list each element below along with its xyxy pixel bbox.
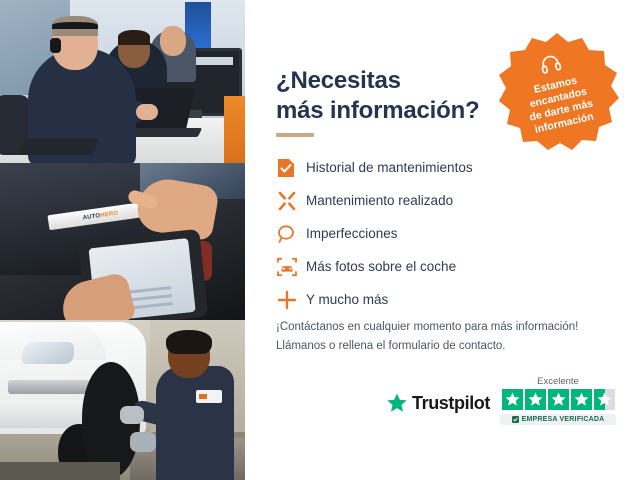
feature-item-imperfecciones: Imperfecciones	[276, 218, 576, 249]
star-full	[525, 389, 546, 410]
ruler-brand-part2: HERO	[100, 210, 119, 218]
feature-label: Más fotos sobre el coche	[306, 260, 456, 274]
badge-text: Estamos encantados de darte más informac…	[503, 68, 618, 142]
mechanic-lift-photo	[0, 320, 245, 480]
trustpilot-logo: Trustpilot	[386, 392, 490, 414]
rating-label: Excelente	[500, 376, 616, 387]
feature-label: Mantenimiento realizado	[306, 194, 453, 208]
promo-banner: AUTOHERO ¿Necesitas más inform	[0, 0, 639, 480]
verified-label: EMPRESA VERIFICADA	[522, 416, 605, 423]
contact-line-1: ¡Contáctanos en cualquier momento para m…	[276, 318, 612, 337]
star-full	[548, 389, 569, 410]
magnifier-icon	[276, 222, 306, 246]
page-title: ¿Necesitas más información?	[276, 66, 511, 126]
contact-line-2: Llámanos o rellena el formulario de cont…	[276, 337, 612, 356]
feature-list: Historial de mantenimientos Mantenimient…	[276, 152, 576, 317]
feature-label: Y mucho más	[306, 293, 388, 307]
trustpilot-wordmark: Trustpilot	[412, 393, 490, 414]
headset-icon	[538, 52, 565, 81]
star-rating	[500, 389, 616, 410]
wrench-tools-icon	[276, 189, 306, 213]
photo-column: AUTOHERO	[0, 0, 245, 480]
headline-line-2: más información?	[276, 96, 511, 126]
feature-label: Imperfecciones	[306, 227, 398, 241]
star-full	[502, 389, 523, 410]
call-center-agents-photo	[0, 0, 245, 163]
verified-check-icon	[512, 416, 519, 423]
info-badge: Estamos encantados de darte más informac…	[492, 30, 622, 154]
trustpilot-star-icon	[386, 392, 408, 414]
trustpilot-block: Trustpilot Excelente	[386, 376, 616, 440]
feature-item-mantenimiento: Mantenimiento realizado	[276, 185, 576, 216]
ruler-brand-part1: AUTO	[82, 213, 100, 221]
trustpilot-rating: Excelente	[500, 376, 616, 425]
headline-line-1: ¿Necesitas	[276, 67, 401, 94]
verified-badge: EMPRESA VERIFICADA	[500, 414, 616, 425]
document-check-icon	[276, 156, 306, 180]
feature-item-fotos: Más fotos sobre el coche	[276, 251, 576, 282]
vehicle-inspection-photo: AUTOHERO	[0, 163, 245, 320]
content-panel: ¿Necesitas más información? Historial de…	[245, 0, 639, 480]
contact-text: ¡Contáctanos en cualquier momento para m…	[276, 318, 612, 356]
car-photo-frame-icon	[276, 255, 306, 279]
feature-item-mas: Y mucho más	[276, 284, 576, 315]
plus-icon	[276, 288, 306, 312]
title-divider	[276, 133, 314, 137]
star-half	[594, 389, 615, 410]
star-full	[571, 389, 592, 410]
feature-label: Historial de mantenimientos	[306, 161, 473, 175]
